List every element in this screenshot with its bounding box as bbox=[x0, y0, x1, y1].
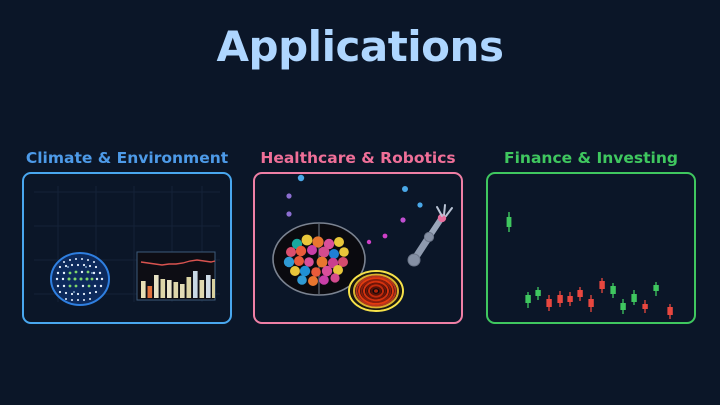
candle-up bbox=[620, 299, 625, 314]
panel-heading-climate: Climate & Environment bbox=[26, 149, 228, 167]
candle-down bbox=[577, 287, 582, 301]
candle-down bbox=[588, 295, 593, 312]
candle-up bbox=[525, 292, 530, 308]
candle-up bbox=[653, 282, 658, 296]
panel-climate-environment[interactable]: Climate & Environment bbox=[22, 172, 232, 324]
globe-dotted-grid-icon bbox=[51, 253, 109, 305]
climate-visual-group bbox=[24, 174, 230, 322]
page-title: Applications bbox=[0, 22, 720, 71]
candlestick-outlier bbox=[507, 212, 512, 232]
candle-down bbox=[642, 300, 647, 313]
candle-up bbox=[631, 290, 636, 305]
candle-down bbox=[557, 291, 562, 307]
healthcare-visual-group bbox=[255, 174, 461, 322]
panel-heading-finance: Finance & Investing bbox=[504, 149, 678, 167]
candlestick-series bbox=[525, 278, 672, 319]
candle-down bbox=[599, 278, 604, 293]
panel-finance-investing[interactable]: Finance & Investing bbox=[486, 172, 696, 324]
mini-bar-chart bbox=[137, 252, 215, 300]
finance-visual-group bbox=[488, 174, 694, 322]
panel-box-climate bbox=[22, 172, 232, 324]
candle-down bbox=[546, 295, 551, 311]
robot-arm-icon bbox=[408, 205, 452, 266]
panel-heading-healthcare: Healthcare & Robotics bbox=[260, 149, 455, 167]
panel-box-finance bbox=[486, 172, 696, 324]
candle-down bbox=[667, 304, 672, 319]
candle-down bbox=[567, 292, 572, 306]
panel-healthcare-robotics[interactable]: Healthcare & Robotics bbox=[253, 172, 463, 324]
candle-up bbox=[535, 287, 540, 300]
candle-up bbox=[610, 283, 615, 298]
radial-heatmap-icon bbox=[348, 270, 404, 312]
slide-root: Applications Climate & Environment bbox=[0, 0, 720, 405]
panel-box-healthcare bbox=[253, 172, 463, 324]
